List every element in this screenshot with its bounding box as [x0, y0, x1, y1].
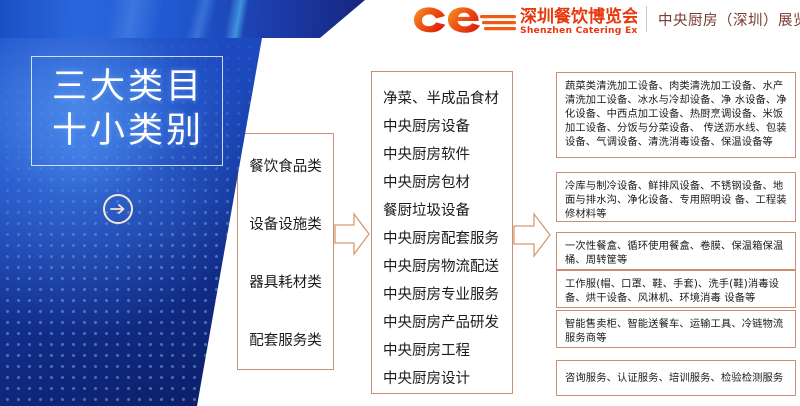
expo-logo: 深圳餐饮博览会 Shenzhen Catering Expo — [402, 4, 637, 35]
subcategory-item[interactable]: 餐厨垃圾设备 — [372, 199, 512, 220]
logo-text-en: Shenzhen Catering Expo — [520, 25, 637, 35]
logo-text-cn: 深圳餐饮博览会 — [520, 6, 637, 27]
header-divider — [646, 6, 647, 32]
ce-logo-mark — [414, 7, 516, 32]
hero-title-line-1: 三大类目 — [32, 68, 224, 106]
subcategory-item[interactable]: 中央厨房工程 — [372, 339, 512, 360]
category-item[interactable]: 器具耗材类 — [238, 271, 333, 292]
subcategories-box: 净菜、半成品食材 中央厨房设备 中央厨房软件 中央厨房包材 餐厨垃圾设备 中央厨… — [371, 71, 513, 394]
hero-panel: 三大类目 十小类别 — [0, 38, 262, 406]
detail-box[interactable]: 咨询服务、认证服务、培训服务、检验检测服务 — [556, 360, 796, 396]
category-item[interactable]: 餐饮食品类 — [238, 155, 333, 176]
subcategory-item[interactable]: 中央厨房设计 — [372, 367, 512, 388]
banner-blue-shape — [0, 0, 365, 38]
block-arrow-right-icon-1 — [334, 212, 370, 260]
detail-box[interactable]: 智能售卖柜、智能送餐车、运输工具、冷链物流服务商等 — [556, 310, 796, 348]
subcategory-item[interactable]: 净菜、半成品食材 — [372, 87, 512, 108]
subcategory-item[interactable]: 中央厨房包材 — [372, 171, 512, 192]
subcategory-item[interactable]: 中央厨房设备 — [372, 115, 512, 136]
block-arrow-right-icon-2 — [513, 212, 551, 262]
detail-box[interactable]: 冷库与制冷设备、鲜排风设备、不锈钢设备、地面与排水沟、净化设备、专用照明设 备、… — [556, 172, 796, 222]
hero-title-box: 三大类目 十小类别 — [31, 56, 223, 166]
header-subtitle: 中央厨房（深圳）展览会 — [658, 9, 800, 30]
hero-title-line-2: 十小类别 — [32, 112, 224, 150]
detail-box[interactable]: 蔬菜类清洗加工设备、肉类清洗加工设备、水产清洗加工设备、冰水与冷却设备、净 水设… — [556, 72, 796, 158]
subcategory-item[interactable]: 中央厨房软件 — [372, 143, 512, 164]
detail-box[interactable]: 工作服(帽、口罩、鞋、手套)、洗手(鞋)消毒设备、烘干设备、风淋机、环境消毒 设… — [556, 270, 796, 308]
category-item[interactable]: 配套服务类 — [238, 329, 333, 350]
detail-box[interactable]: 一次性餐盒、循环使用餐盒、卷膜、保温箱保温桶、周转筐等 — [556, 232, 796, 270]
subcategory-item[interactable]: 中央厨房产品研发 — [372, 311, 512, 332]
top-banner: 深圳餐饮博览会 Shenzhen Catering Expo 中央厨房（深圳）展… — [0, 0, 800, 38]
categories-box: 餐饮食品类 设备设施类 器具耗材类 配套服务类 — [237, 133, 334, 370]
subcategory-item[interactable]: 中央厨房物流配送 — [372, 255, 512, 276]
subcategory-item[interactable]: 中央厨房配套服务 — [372, 227, 512, 248]
circle-arrow-right-icon — [103, 194, 133, 224]
category-item[interactable]: 设备设施类 — [238, 213, 333, 234]
subcategory-item[interactable]: 中央厨房专业服务 — [372, 283, 512, 304]
